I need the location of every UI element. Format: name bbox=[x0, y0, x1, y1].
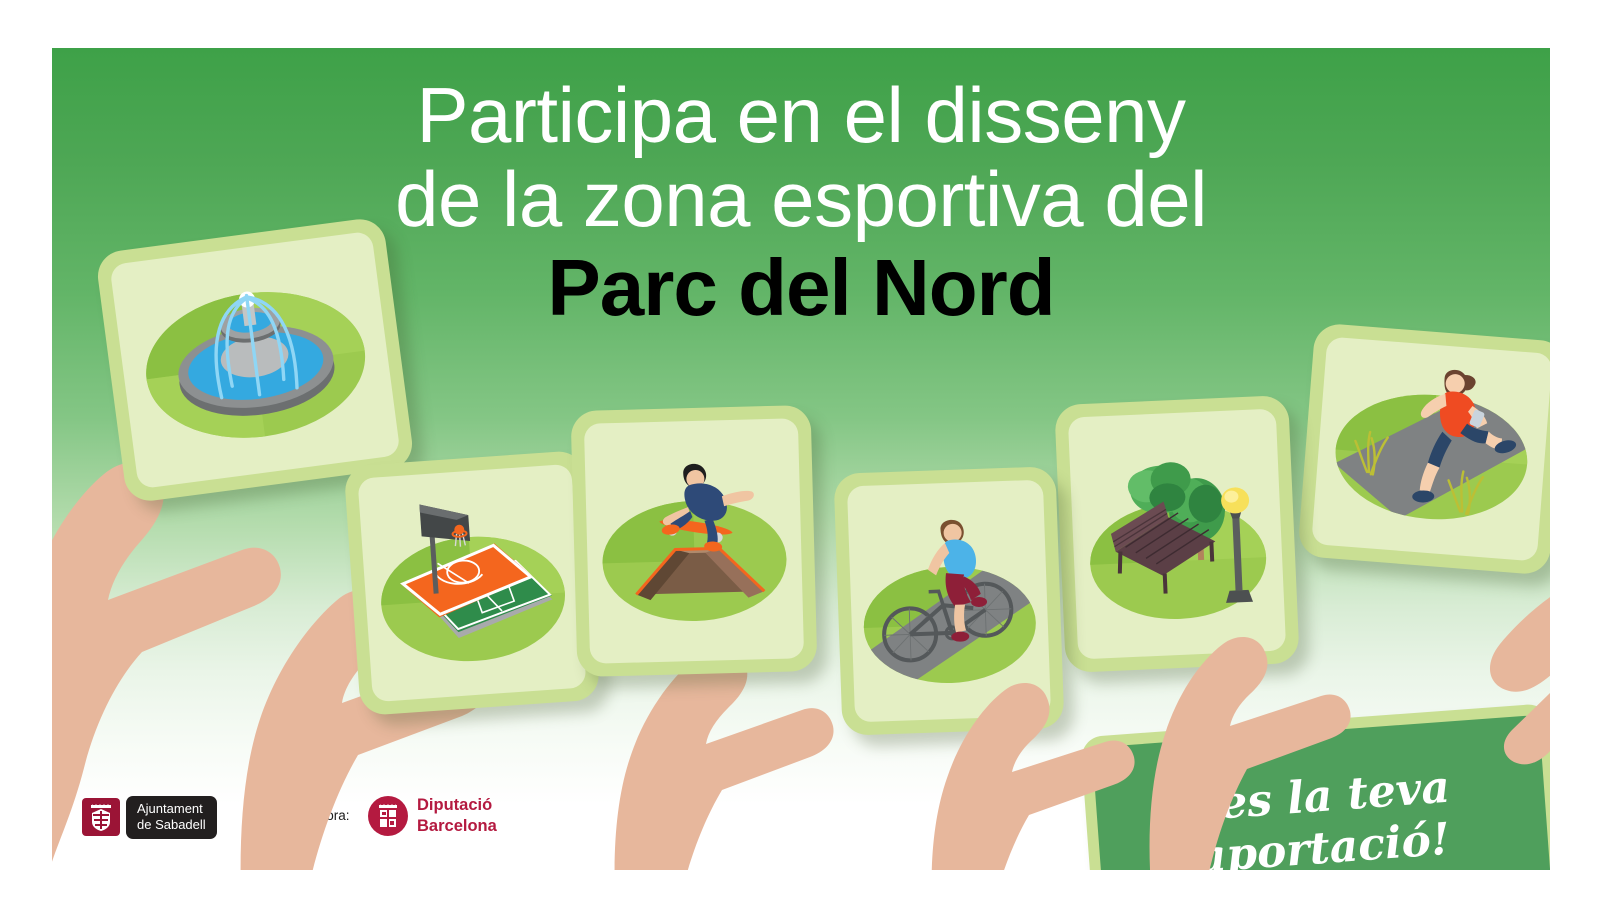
hand-pointing-icon bbox=[1117, 548, 1367, 870]
card-skatepark[interactable] bbox=[571, 405, 818, 677]
fountain-icon bbox=[109, 231, 400, 490]
sports-court-icon bbox=[357, 464, 586, 702]
card-courts[interactable] bbox=[344, 450, 601, 716]
card-fountain-inner bbox=[109, 231, 400, 490]
hand-right-outer bbox=[1352, 478, 1550, 838]
hand-pointing-icon bbox=[897, 596, 1147, 870]
hand-bikepath bbox=[897, 596, 1147, 870]
green-banner-panel: Participa en el disseny de la zona espor… bbox=[52, 48, 1550, 870]
card-fountain[interactable] bbox=[95, 216, 415, 504]
headline-line-1: Participa en el disseny bbox=[52, 76, 1550, 154]
hand-pointing-icon bbox=[1352, 478, 1550, 838]
skateboarder-icon bbox=[584, 418, 804, 664]
headline-line-2: de la zona esportiva del bbox=[52, 160, 1550, 238]
card-skatepark-inner bbox=[584, 418, 804, 664]
hand-benchtrees bbox=[1117, 548, 1367, 870]
card-courts-inner bbox=[357, 464, 586, 702]
banner-root: Participa en el disseny de la zona espor… bbox=[0, 0, 1600, 900]
